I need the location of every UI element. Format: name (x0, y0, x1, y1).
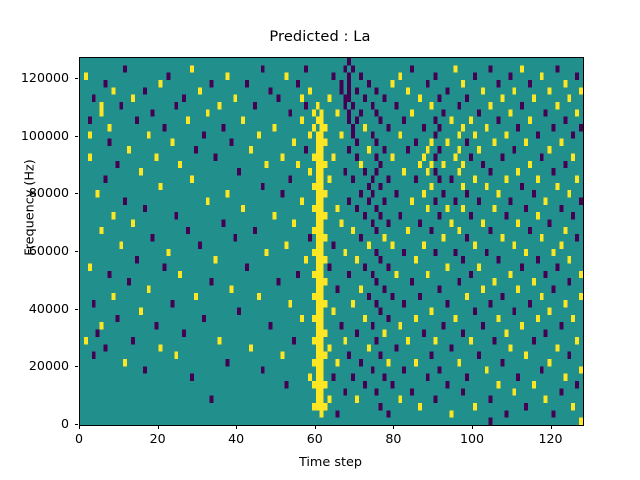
y-tick-0 (75, 424, 79, 425)
heatmap-canvas[interactable] (80, 58, 583, 425)
y-ticklabel-120000: 120000 (3, 70, 69, 85)
heatmap-axes[interactable] (79, 57, 584, 426)
matplotlib-figure: Predicted : La 0204060801001200200004000… (0, 0, 640, 480)
y-ticklabel-0: 0 (3, 416, 69, 431)
x-tick-120 (551, 425, 552, 429)
x-ticklabel-80: 80 (363, 431, 423, 446)
x-tick-80 (393, 425, 394, 429)
x-ticklabel-0: 0 (49, 431, 109, 446)
x-tick-100 (472, 425, 473, 429)
x-ticklabel-20: 20 (128, 431, 188, 446)
x-ticklabel-100: 100 (442, 431, 502, 446)
x-ticklabel-40: 40 (206, 431, 266, 446)
y-ticklabel-40000: 40000 (3, 301, 69, 316)
x-tick-60 (315, 425, 316, 429)
x-tick-0 (79, 425, 80, 429)
y-tick-20000 (75, 366, 79, 367)
y-tick-60000 (75, 251, 79, 252)
x-ticklabel-120: 120 (521, 431, 581, 446)
chart-title: Predicted : La (0, 28, 640, 45)
y-ticklabel-20000: 20000 (3, 358, 69, 373)
y-tick-100000 (75, 136, 79, 137)
y-axis-label: Frequency (Hz) (23, 123, 38, 293)
x-ticklabel-60: 60 (285, 431, 345, 446)
y-tick-120000 (75, 78, 79, 79)
x-tick-40 (236, 425, 237, 429)
x-tick-20 (158, 425, 159, 429)
y-tick-80000 (75, 193, 79, 194)
x-axis-label: Time step (79, 455, 582, 470)
y-tick-40000 (75, 309, 79, 310)
